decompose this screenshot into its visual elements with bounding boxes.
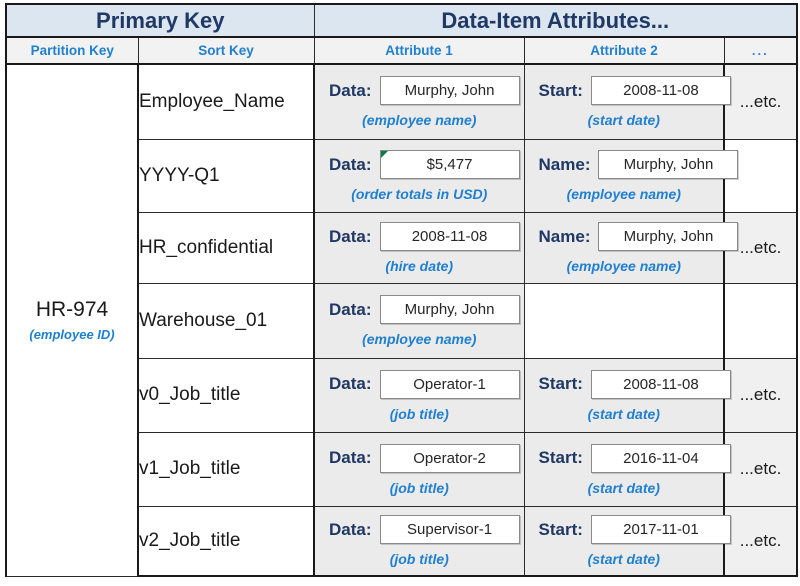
attribute-note: (start date) [533, 406, 716, 422]
attribute-label: Name: [533, 227, 599, 247]
attribute-label: Start: [533, 520, 591, 540]
sort-key-cell[interactable]: Warehouse_01 [138, 283, 314, 358]
attribute-2-cell[interactable]: Start:2017-11-01(start date) [524, 506, 724, 576]
attribute-value-box[interactable]: Operator-1 [380, 370, 520, 399]
attribute-1-cell[interactable]: Data:Murphy, John(employee name) [314, 64, 524, 139]
attribute-1-header: Attribute 1 [314, 37, 524, 64]
sort-key-cell[interactable]: HR_confidential [138, 212, 314, 283]
attribute-value-box[interactable]: Supervisor-1 [380, 515, 520, 544]
attribute-label: Data: [323, 520, 380, 540]
sort-key-cell[interactable]: YYYY-Q1 [138, 139, 314, 212]
table-header: Primary Key Data-Item Attributes... Part… [6, 4, 797, 64]
more-attributes-cell[interactable]: ...etc. [724, 506, 797, 576]
partition-key-cell[interactable]: HR-974(employee ID) [6, 64, 138, 576]
attribute-note: (start date) [533, 112, 716, 128]
attribute-1-cell[interactable]: Data:Operator-2(job title) [314, 432, 524, 506]
attribute-2-cell[interactable]: Name:Murphy, John(employee name) [524, 212, 724, 283]
dynamodb-table: Primary Key Data-Item Attributes... Part… [5, 3, 798, 577]
attribute-value-box[interactable]: 2008-11-08 [591, 76, 731, 105]
attribute-note: (employee name) [323, 112, 516, 128]
attribute-label: Start: [533, 374, 591, 394]
attribute-note: (employee name) [533, 186, 716, 202]
attribute-label: Data: [323, 448, 380, 468]
attribute-value-box[interactable]: Murphy, John [380, 295, 520, 324]
partition-key-value: HR-974 [7, 298, 137, 322]
attribute-2-cell[interactable]: Start:2008-11-08(start date) [524, 358, 724, 432]
attribute-value-box[interactable]: 2016-11-04 [591, 444, 731, 473]
attribute-label: Data: [323, 227, 380, 247]
ellipsis-icon: ... [752, 43, 769, 58]
sort-key-cell[interactable]: Employee_Name [138, 64, 314, 139]
sort-key-header: Sort Key [138, 37, 314, 64]
attribute-value-box[interactable]: Murphy, John [380, 76, 520, 105]
attribute-1-cell[interactable]: Data:$5,477(order totals in USD) [314, 139, 524, 212]
attribute-value-box[interactable]: 2008-11-08 [380, 222, 520, 251]
attribute-2-cell[interactable]: Name:Murphy, John(employee name) [524, 139, 724, 212]
partition-key-note: (employee ID) [7, 327, 137, 342]
more-attributes-cell[interactable]: ...etc. [724, 432, 797, 506]
more-attributes-header: ... [724, 37, 797, 64]
primary-key-title: Primary Key [6, 4, 314, 37]
attribute-1-cell[interactable]: Data:Operator-1(job title) [314, 358, 524, 432]
attribute-label: Data: [323, 300, 380, 320]
header-top-row: Primary Key Data-Item Attributes... [6, 4, 797, 37]
partition-key-header: Partition Key [6, 37, 138, 64]
attribute-label: Start: [533, 448, 591, 468]
header-sub-row: Partition Key Sort Key Attribute 1 Attri… [6, 37, 797, 64]
attribute-label: Name: [533, 155, 599, 175]
attribute-2-cell[interactable]: Start:2008-11-08(start date) [524, 64, 724, 139]
attribute-label: Data: [323, 81, 380, 101]
attribute-value-box[interactable]: Operator-2 [380, 444, 520, 473]
attribute-note: (hire date) [323, 258, 516, 274]
attribute-value-box[interactable]: 2017-11-01 [591, 515, 731, 544]
attribute-value-box[interactable]: Murphy, John [598, 150, 738, 179]
sort-key-cell[interactable]: v0_Job_title [138, 358, 314, 432]
attribute-2-cell [524, 283, 724, 358]
attribute-1-cell[interactable]: Data:Supervisor-1(job title) [314, 506, 524, 576]
attribute-note: (start date) [533, 551, 716, 567]
spreadsheet-canvas: Primary Key Data-Item Attributes... Part… [0, 0, 800, 586]
more-attributes-cell [724, 283, 797, 358]
sort-key-cell[interactable]: v1_Job_title [138, 432, 314, 506]
data-item-attributes-title: Data-Item Attributes... [314, 4, 797, 37]
attribute-label: Start: [533, 81, 591, 101]
more-attributes-cell[interactable]: ...etc. [724, 64, 797, 139]
sort-key-cell[interactable]: v2_Job_title [138, 506, 314, 576]
attribute-note: (employee name) [533, 258, 716, 274]
table-body: HR-974(employee ID)Employee_NameData:Mur… [6, 64, 797, 576]
attribute-note: (job title) [323, 480, 516, 496]
attribute-note: (employee name) [323, 331, 516, 347]
attribute-value-box[interactable]: $5,477 [380, 150, 520, 179]
attribute-label: Data: [323, 155, 380, 175]
attribute-label: Data: [323, 374, 380, 394]
attribute-note: (job title) [323, 551, 516, 567]
attribute-note: (start date) [533, 480, 716, 496]
attribute-value-box[interactable]: Murphy, John [598, 222, 738, 251]
more-attributes-cell[interactable]: ...etc. [724, 358, 797, 432]
table-row: HR-974(employee ID)Employee_NameData:Mur… [6, 64, 797, 139]
attribute-2-cell[interactable]: Start:2016-11-04(start date) [524, 432, 724, 506]
attribute-note: (order totals in USD) [323, 186, 516, 202]
attribute-1-cell[interactable]: Data:Murphy, John(employee name) [314, 283, 524, 358]
attribute-1-cell[interactable]: Data:2008-11-08(hire date) [314, 212, 524, 283]
attribute-note: (job title) [323, 406, 516, 422]
attribute-2-header: Attribute 2 [524, 37, 724, 64]
attribute-value-box[interactable]: 2008-11-08 [591, 370, 731, 399]
